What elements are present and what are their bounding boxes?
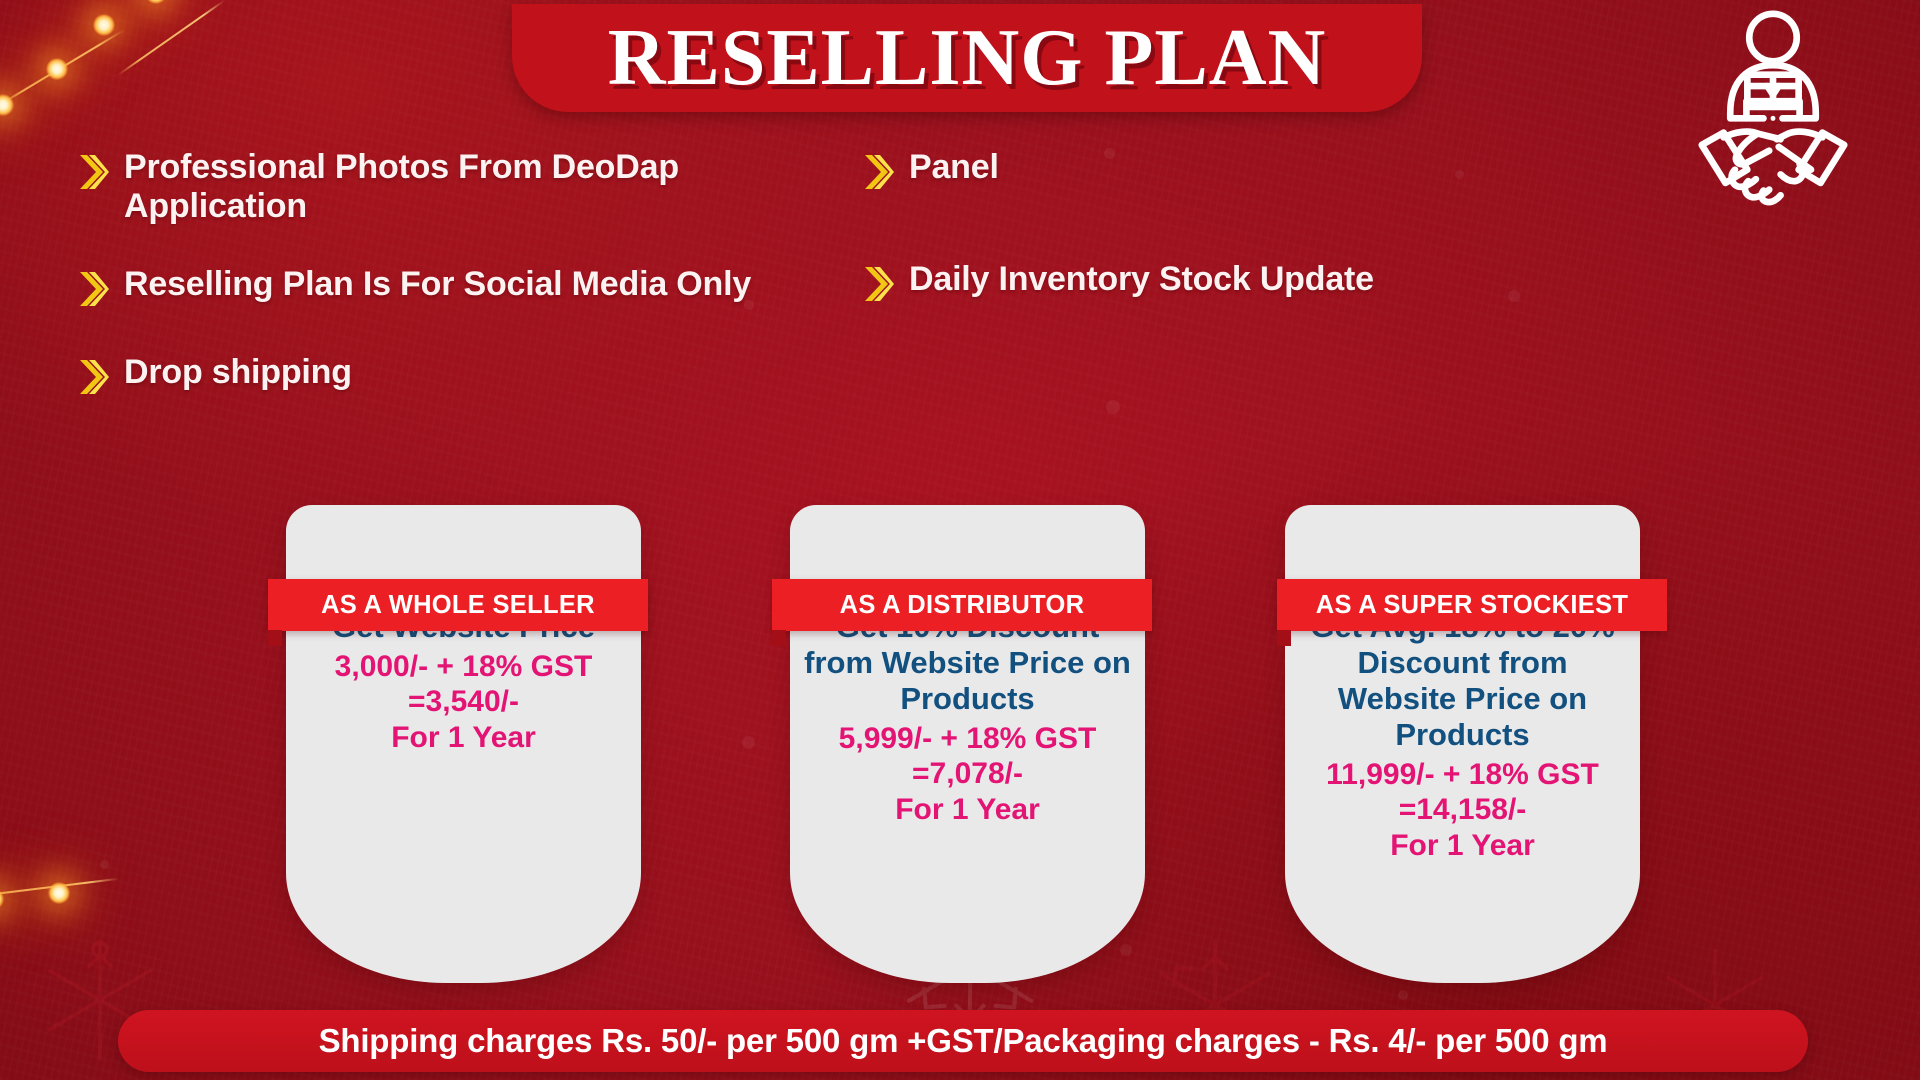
feature-label: Professional Photos From DeoDap Applicat… bbox=[124, 148, 784, 227]
card-price-line: For 1 Year bbox=[300, 720, 627, 755]
card-ribbon: AS A WHOLE SELLER bbox=[268, 579, 648, 631]
double-chevron-icon bbox=[78, 357, 110, 397]
ribbon-fold bbox=[268, 630, 282, 646]
pricing-card-whole-seller[interactable]: AS A WHOLE SELLER Get Website Price 3,00… bbox=[286, 505, 641, 983]
poster-canvas: RESELLING PLAN bbox=[0, 0, 1920, 1080]
double-chevron-icon bbox=[863, 264, 895, 304]
footer-banner: Shipping charges Rs. 50/- per 500 gm +GS… bbox=[118, 1010, 1808, 1072]
card-price-line: 3,000/- + 18% GST bbox=[300, 649, 627, 684]
footer-note: Shipping charges Rs. 50/- per 500 gm +GS… bbox=[319, 1022, 1608, 1060]
feature-label: Drop shipping bbox=[124, 353, 352, 392]
light-bulb bbox=[46, 58, 68, 80]
feature-list-right: Panel Daily Inventory Stock Update bbox=[863, 148, 1593, 342]
feature-list-left: Professional Photos From DeoDap Applicat… bbox=[78, 148, 878, 435]
card-ribbon-label: AS A DISTRIBUTOR bbox=[840, 591, 1085, 620]
pricing-card-super-stockiest[interactable]: AS A SUPER STOCKIEST Get Avg. 18% to 20%… bbox=[1285, 505, 1640, 983]
card-ribbon-label: AS A WHOLE SELLER bbox=[321, 591, 595, 620]
card-price-line: For 1 Year bbox=[804, 792, 1131, 827]
card-shield: AS A WHOLE SELLER Get Website Price 3,00… bbox=[286, 505, 641, 983]
double-chevron-icon bbox=[78, 152, 110, 192]
card-price-line: =14,158/- bbox=[1299, 792, 1626, 827]
pricing-cards: AS A WHOLE SELLER Get Website Price 3,00… bbox=[0, 505, 1920, 985]
card-shield: AS A SUPER STOCKIEST Get Avg. 18% to 20%… bbox=[1285, 505, 1640, 983]
card-ribbon: AS A SUPER STOCKIEST bbox=[1277, 579, 1667, 631]
page-title: RESELLING PLAN bbox=[608, 18, 1327, 98]
double-chevron-icon bbox=[78, 269, 110, 309]
list-item: Daily Inventory Stock Update bbox=[863, 260, 1593, 304]
list-item: Panel bbox=[863, 148, 1593, 192]
ribbon-fold bbox=[1277, 630, 1291, 646]
list-item: Reselling Plan Is For Social Media Only bbox=[78, 265, 878, 309]
card-price-line: For 1 Year bbox=[1299, 828, 1626, 863]
card-price-line: 11,999/- + 18% GST bbox=[1299, 757, 1626, 792]
title-banner: RESELLING PLAN bbox=[512, 4, 1422, 112]
card-price-line: 5,999/- + 18% GST bbox=[804, 721, 1131, 756]
card-price-line: =3,540/- bbox=[300, 684, 627, 719]
light-bulb bbox=[0, 94, 14, 116]
bokeh-dot bbox=[1106, 400, 1120, 414]
light-bulb bbox=[93, 14, 115, 36]
handshake-icon bbox=[1678, 6, 1868, 206]
card-shield: AS A DISTRIBUTOR Get 10% Discount from W… bbox=[790, 505, 1145, 983]
list-item: Professional Photos From DeoDap Applicat… bbox=[78, 148, 878, 227]
feature-label: Panel bbox=[909, 148, 999, 187]
card-ribbon: AS A DISTRIBUTOR bbox=[772, 579, 1152, 631]
double-chevron-icon bbox=[863, 152, 895, 192]
card-ribbon-label: AS A SUPER STOCKIEST bbox=[1316, 591, 1629, 620]
light-bulb bbox=[145, 0, 167, 4]
feature-label: Daily Inventory Stock Update bbox=[909, 260, 1374, 299]
ribbon-fold bbox=[772, 630, 786, 646]
pricing-card-distributor[interactable]: AS A DISTRIBUTOR Get 10% Discount from W… bbox=[790, 505, 1145, 983]
bokeh-dot bbox=[1398, 990, 1408, 1000]
card-price-line: =7,078/- bbox=[804, 756, 1131, 791]
list-item: Drop shipping bbox=[78, 353, 878, 397]
feature-label: Reselling Plan Is For Social Media Only bbox=[124, 265, 751, 304]
